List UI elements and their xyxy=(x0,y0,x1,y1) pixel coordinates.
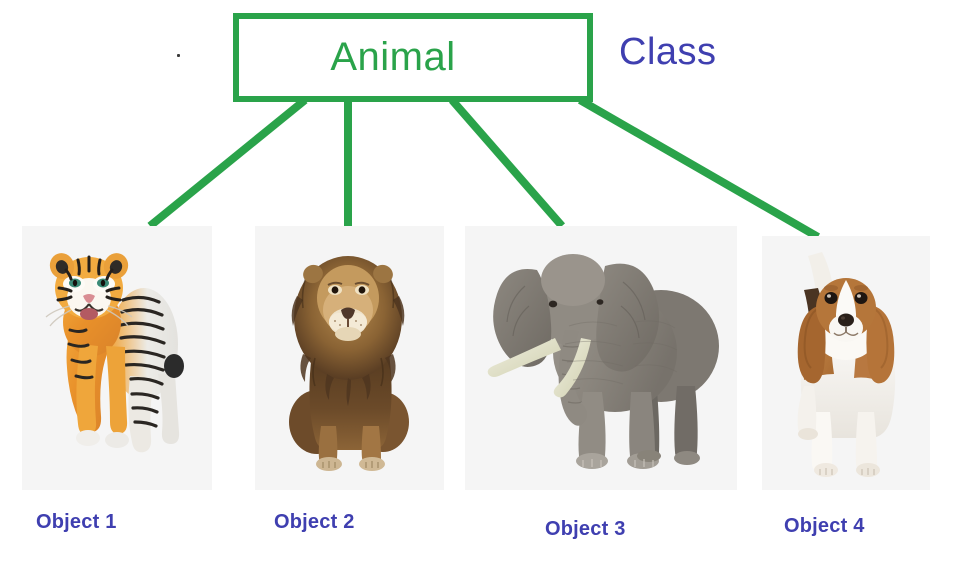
object-image-frame-1 xyxy=(22,226,212,490)
object-image-frame-2 xyxy=(255,226,444,490)
object-label-3: Object 3 xyxy=(545,518,626,541)
object-label-1: Object 1 xyxy=(36,511,117,534)
stray-dot-artifact xyxy=(177,54,180,57)
object-image-frame-4 xyxy=(762,236,930,490)
object-card-1[interactable]: Object 1 xyxy=(22,226,212,526)
class-annotation-label: Class xyxy=(619,31,717,74)
class-box[interactable]: Animal xyxy=(233,13,593,102)
connector-to-object-1 xyxy=(150,100,305,226)
elephant-photo xyxy=(465,226,737,490)
object-card-2[interactable]: Object 2 xyxy=(255,226,445,526)
dog-photo xyxy=(762,236,930,490)
class-name-label: Animal xyxy=(239,19,587,96)
connector-to-object-3 xyxy=(452,100,562,226)
diagram-canvas: Animal Class xyxy=(0,0,961,586)
object-card-3[interactable]: Object 3 xyxy=(465,226,737,526)
tiger-photo xyxy=(22,226,212,490)
object-label-4: Object 4 xyxy=(784,515,865,538)
object-label-2: Object 2 xyxy=(274,511,355,534)
object-image-frame-3 xyxy=(465,226,737,490)
object-card-4[interactable]: Object 4 xyxy=(762,236,952,536)
lion-photo xyxy=(255,226,444,490)
connector-to-object-4 xyxy=(580,100,818,237)
